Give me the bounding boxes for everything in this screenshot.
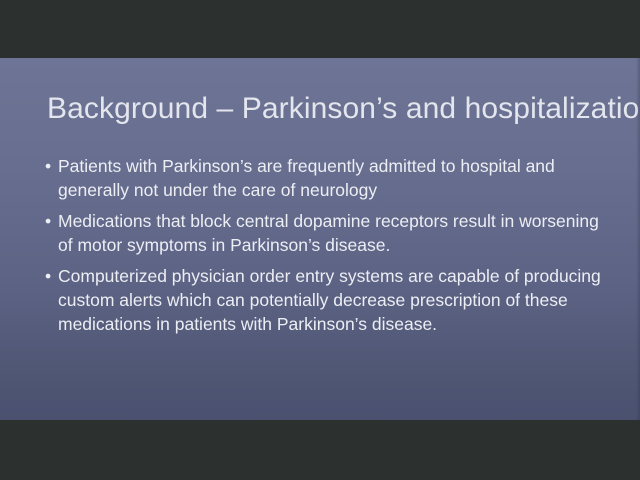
bullet-dot-icon: • — [45, 209, 55, 233]
presentation-viewer: Background – Parkinson’s and hospitaliza… — [0, 0, 640, 480]
slide-title: Background – Parkinson’s and hospitaliza… — [47, 91, 607, 127]
slide-canvas: Background – Parkinson’s and hospitaliza… — [0, 58, 640, 420]
slide-bullet-list: • Patients with Parkinson’s are frequent… — [44, 154, 606, 343]
bullet-dot-icon: • — [45, 264, 55, 288]
bullet-item-2: • Medications that block central dopamin… — [44, 209, 606, 257]
bullet-item-3-text: Computerized physician order entry syste… — [58, 264, 606, 336]
bullet-dot-icon: • — [45, 154, 55, 178]
bullet-item-1-text: Patients with Parkinson’s are frequently… — [58, 154, 606, 202]
letterbox-top-bar — [0, 0, 640, 58]
bullet-item-3: • Computerized physician order entry sys… — [44, 264, 606, 336]
bullet-item-1: • Patients with Parkinson’s are frequent… — [44, 154, 606, 202]
letterbox-bottom-bar — [0, 420, 640, 480]
bullet-item-2-text: Medications that block central dopamine … — [58, 209, 606, 257]
